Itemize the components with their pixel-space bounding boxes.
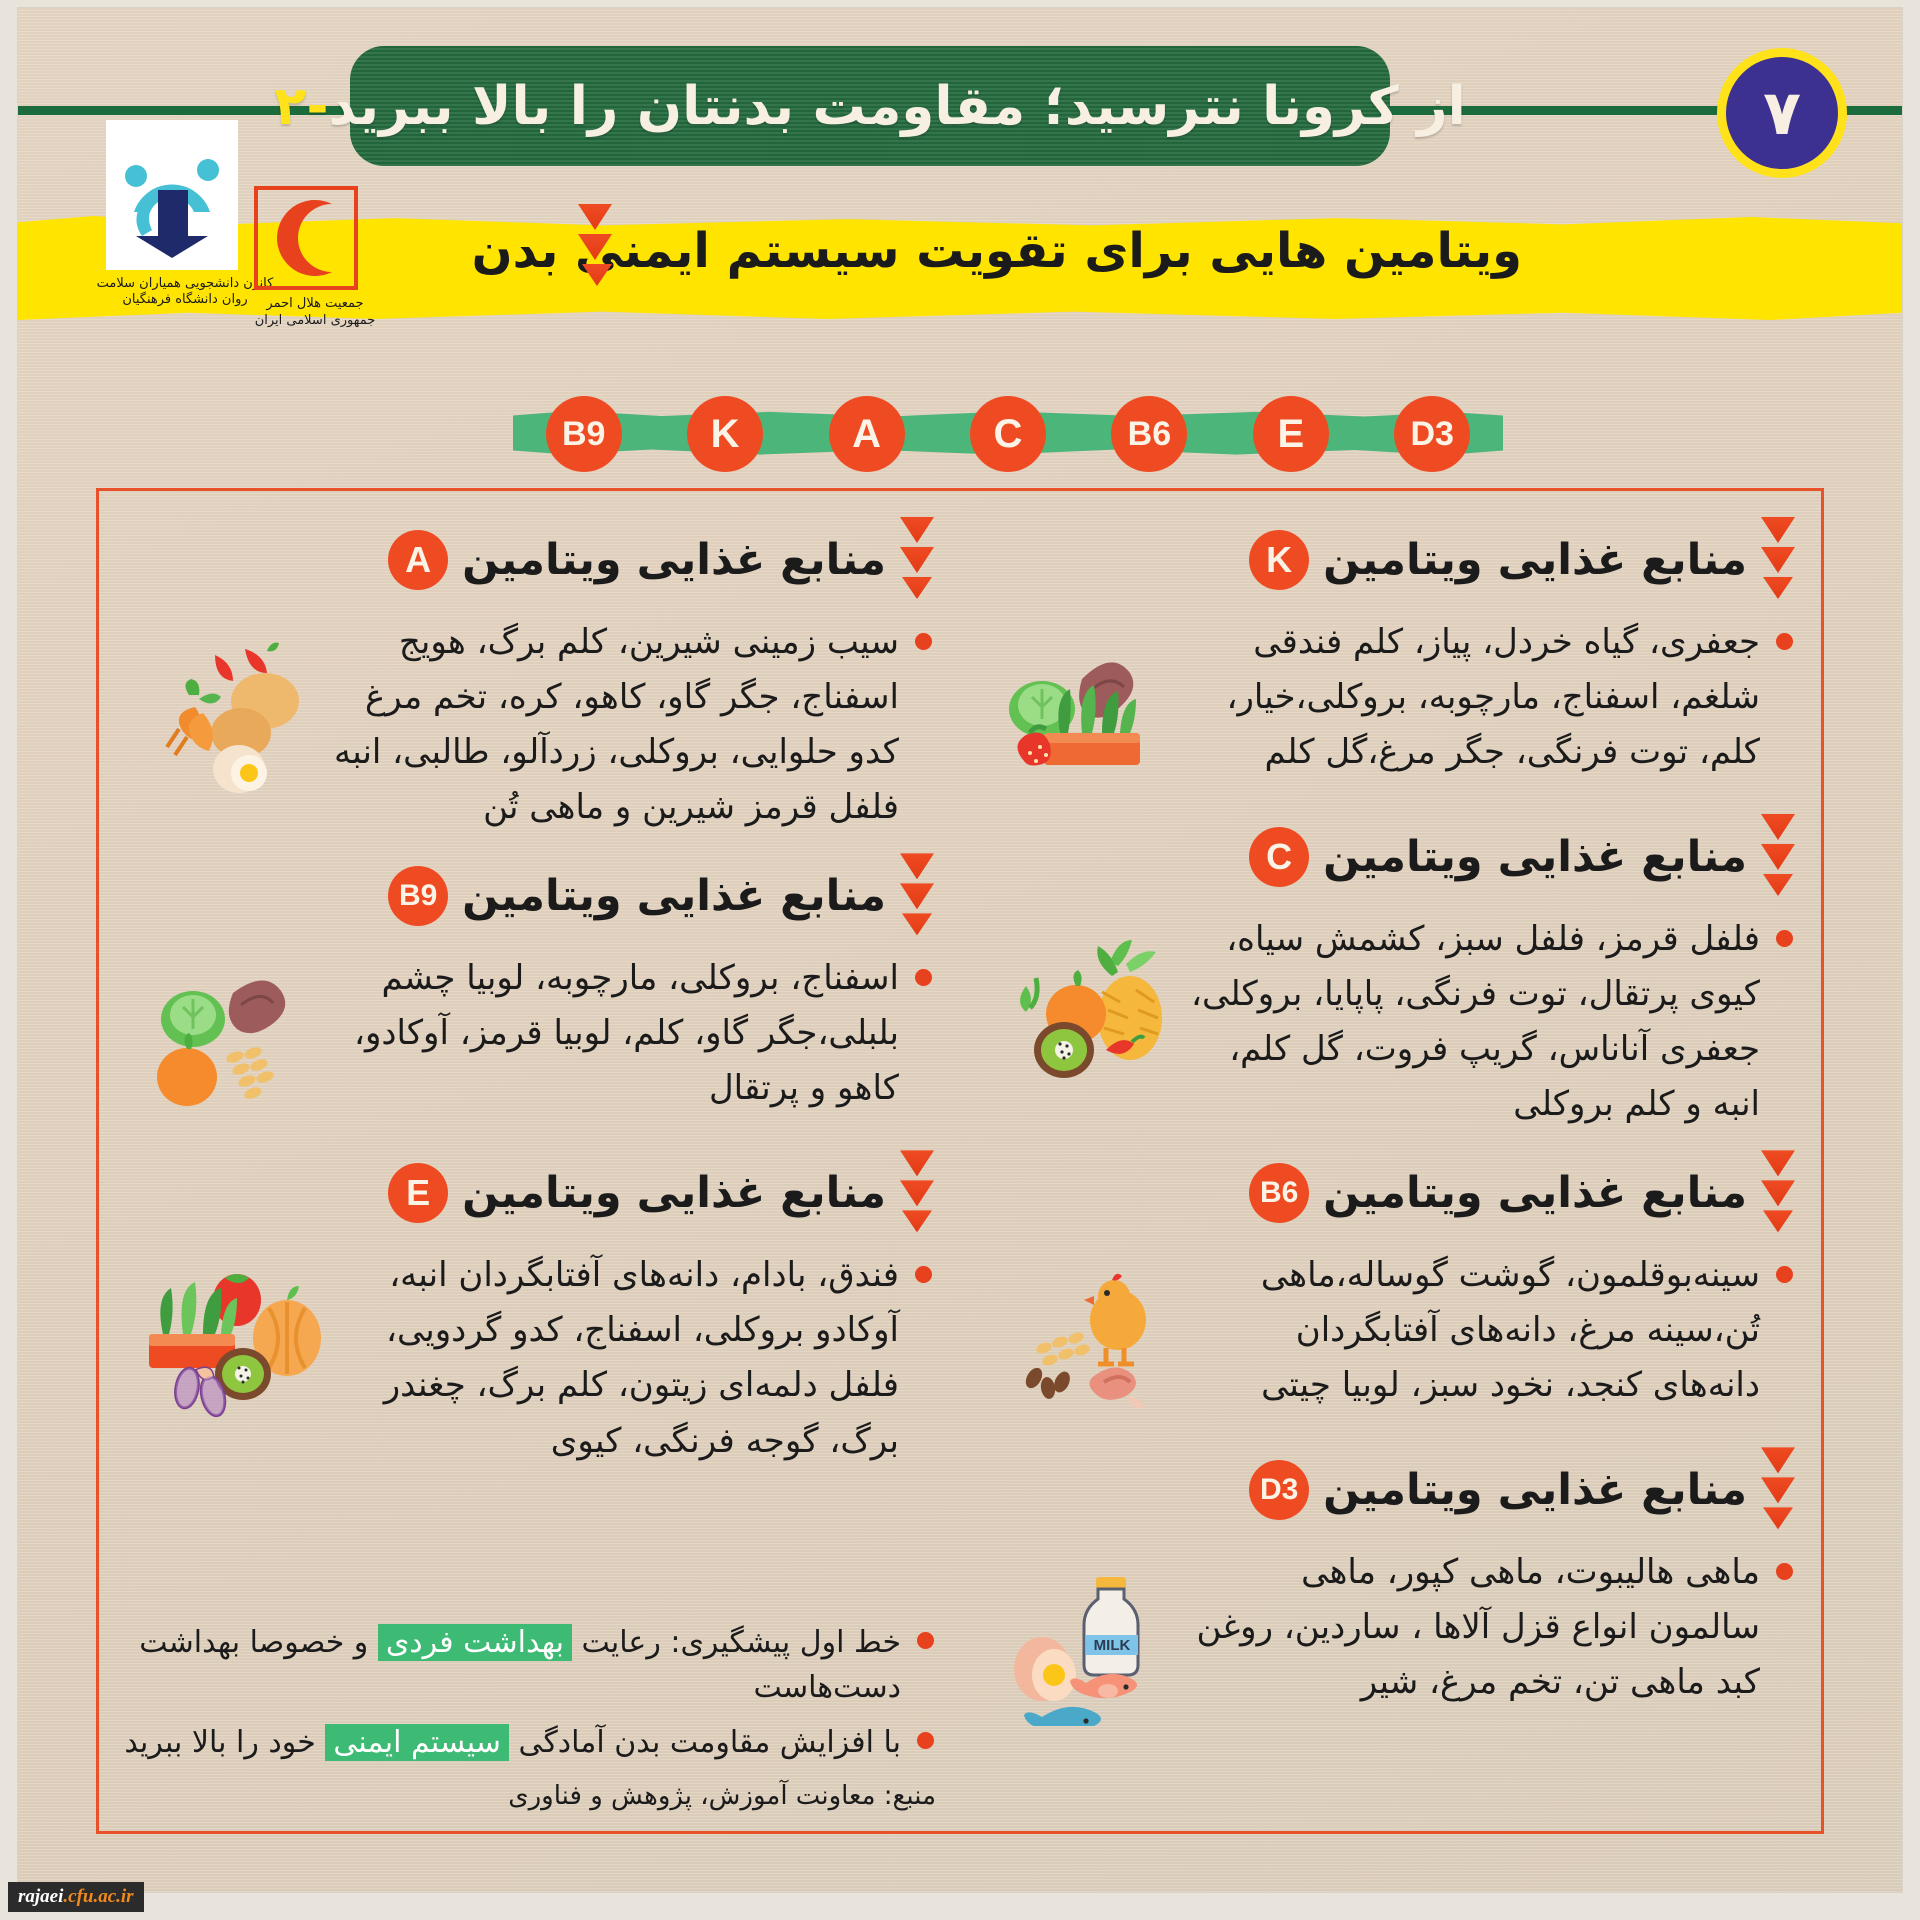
note-row-1: خط اول پیشگیری: رعایت بهداشت فردی و خصوص… bbox=[123, 1620, 936, 1710]
section-chevron-icon bbox=[1761, 1150, 1795, 1236]
section-vitamin-b6: منابع غذایی ویتامین B6 سینه‌بوقلمون، گوش… bbox=[986, 1150, 1795, 1429]
section-title-a: منابع غذایی ویتامین bbox=[462, 535, 886, 585]
vitamin-chip-d3[interactable]: D3 bbox=[1394, 396, 1470, 472]
section-text-c: فلفل قرمز، فلفل سبز، کشمش سیاه، کیوی پرت… bbox=[1190, 912, 1760, 1132]
section-vitamin-e: منابع غذایی ویتامین E فندق، بادام، دانه‌… bbox=[125, 1150, 934, 1468]
vitamin-chip-strip: B9 K A C B6 E D3 bbox=[18, 396, 1902, 472]
section-chevron-icon bbox=[900, 1150, 934, 1236]
section-chevron-icon bbox=[1761, 814, 1795, 900]
red-crescent-caption-line2: جمهوری اسلامی ایران bbox=[230, 313, 400, 330]
section-chevron-icon bbox=[900, 517, 934, 603]
art-vitamin-b9 bbox=[129, 957, 329, 1132]
art-vitamin-e bbox=[129, 1254, 329, 1429]
section-badge-d3: D3 bbox=[1249, 1460, 1309, 1520]
art-vitamin-k bbox=[990, 621, 1190, 796]
section-text-e: فندق، بادام، دانه‌های آفتابگردان انبه، آ… bbox=[329, 1248, 899, 1468]
vitamin-chip-e[interactable]: E bbox=[1253, 396, 1329, 472]
student-association-logo bbox=[106, 120, 238, 270]
section-vitamin-a: منابع غذایی ویتامین A سیب زمینی شیرین، ک… bbox=[125, 517, 934, 835]
vitamin-chip-c[interactable]: C bbox=[970, 396, 1046, 472]
note2-highlight: سیستم ایمنی bbox=[325, 1724, 509, 1761]
subtitle-text: ویتامین هایی برای تقویت سیستم ایمنی بدن bbox=[472, 223, 1522, 279]
bullet-icon bbox=[1776, 930, 1793, 947]
section-badge-a: A bbox=[388, 530, 448, 590]
bullet-icon bbox=[917, 1632, 934, 1649]
section-chevron-icon bbox=[900, 853, 934, 939]
site-watermark: rajaei.cfu.ac.ir bbox=[8, 1882, 144, 1912]
bottom-notes: خط اول پیشگیری: رعایت بهداشت فردی و خصوص… bbox=[123, 1620, 936, 1817]
section-title-b9: منابع غذایی ویتامین bbox=[462, 871, 886, 921]
section-title-c: منابع غذایی ویتامین bbox=[1323, 832, 1747, 882]
page-number-badge: ۷ bbox=[1717, 48, 1847, 178]
vitamin-chip-b9[interactable]: B9 bbox=[546, 396, 622, 472]
red-crescent-logo bbox=[254, 186, 358, 290]
vitamin-chip-b6[interactable]: B6 bbox=[1111, 396, 1187, 472]
bullet-icon bbox=[917, 1732, 934, 1749]
note1-highlight: بهداشت فردی bbox=[378, 1624, 572, 1661]
note2-part3: خود را بالا ببرید bbox=[124, 1725, 325, 1760]
watermark-domain: .cfu.ac.ir bbox=[63, 1886, 133, 1907]
header-title-pill: از کرونا نترسید؛ مقاومت بدنتان را بالا ب… bbox=[350, 46, 1390, 166]
bullet-icon bbox=[1776, 1266, 1793, 1283]
bullet-icon bbox=[915, 969, 932, 986]
art-vitamin-c bbox=[990, 918, 1190, 1093]
section-vitamin-d3: منابع غذایی ویتامین D3 ماهی هالیبوت، ماه… bbox=[986, 1447, 1795, 1726]
content-panel: منابع غذایی ویتامین K جعفری، گیاه خردل، … bbox=[96, 488, 1824, 1834]
section-title-b6: منابع غذایی ویتامین bbox=[1323, 1168, 1747, 1218]
header-title-number: -۲ bbox=[274, 76, 328, 137]
section-text-d3: ماهی هالیبوت، ماهی کپور، ماهی سالمون انو… bbox=[1190, 1545, 1760, 1710]
section-chevron-icon bbox=[1761, 1447, 1795, 1533]
bullet-icon bbox=[1776, 633, 1793, 650]
section-text-b6: سینه‌بوقلمون، گوشت گوساله،ماهی تُن،سینه … bbox=[1190, 1248, 1760, 1413]
watermark-name: rajaei bbox=[18, 1886, 63, 1907]
bullet-icon bbox=[915, 633, 932, 650]
section-badge-e: E bbox=[388, 1163, 448, 1223]
section-title-k: منابع غذایی ویتامین bbox=[1323, 535, 1747, 585]
section-badge-b9: B9 bbox=[388, 866, 448, 926]
bullet-icon bbox=[1776, 1563, 1793, 1580]
section-vitamin-c: منابع غذایی ویتامین C فلفل قرمز، فلفل سب… bbox=[986, 814, 1795, 1132]
section-vitamin-b9: منابع غذایی ویتامین B9 اسفناج، بروکلی، م… bbox=[125, 853, 934, 1132]
bullet-icon bbox=[915, 1266, 932, 1283]
vitamin-chip-k[interactable]: K bbox=[687, 396, 763, 472]
source-line: منبع: معاونت آموزش، پژوهش و فناوری bbox=[123, 1781, 936, 1817]
section-text-k: جعفری، گیاه خردل، پیاز، کلم فندقی شلغم، … bbox=[1190, 615, 1760, 780]
infographic-poster: از کرونا نترسید؛ مقاومت بدنتان را بالا ب… bbox=[18, 8, 1902, 1892]
art-vitamin-b6 bbox=[990, 1254, 1190, 1429]
note1-part1: خط اول پیشگیری: رعایت bbox=[572, 1625, 901, 1660]
right-column: منابع غذایی ویتامین K جعفری، گیاه خردل، … bbox=[960, 491, 1821, 1831]
note-row-2: با افزایش مقاومت بدن آمادگی سیستم ایمنی … bbox=[123, 1720, 936, 1765]
header-title: از کرونا نترسید؛ مقاومت بدنتان را بالا ب… bbox=[274, 76, 1466, 137]
art-vitamin-a bbox=[129, 621, 329, 796]
section-text-b9: اسفناج، بروکلی، مارچوبه، لوبیا چشم بلبلی… bbox=[329, 951, 899, 1116]
page-number-label: ۷ bbox=[1763, 82, 1801, 144]
subtitle-chevron-icon bbox=[578, 204, 612, 290]
red-crescent-caption-line1: جمعیت هلال احمر bbox=[230, 296, 400, 313]
section-badge-b6: B6 bbox=[1249, 1163, 1309, 1223]
note-text-2: با افزایش مقاومت بدن آمادگی سیستم ایمنی … bbox=[123, 1720, 901, 1765]
note2-part1: با افزایش مقاومت بدن آمادگی bbox=[509, 1725, 901, 1760]
left-column: منابع غذایی ویتامین A سیب زمینی شیرین، ک… bbox=[99, 491, 960, 1831]
vitamin-chip-a[interactable]: A bbox=[829, 396, 905, 472]
section-chevron-icon bbox=[1761, 517, 1795, 603]
svg-text:MILK: MILK bbox=[1094, 1637, 1131, 1654]
section-title-d3: منابع غذایی ویتامین bbox=[1323, 1465, 1747, 1515]
section-badge-c: C bbox=[1249, 827, 1309, 887]
section-vitamin-k: منابع غذایی ویتامین K جعفری، گیاه خردل، … bbox=[986, 517, 1795, 796]
red-crescent-caption: جمعیت هلال احمر جمهوری اسلامی ایران bbox=[230, 296, 400, 330]
section-badge-k: K bbox=[1249, 530, 1309, 590]
section-title-e: منابع غذایی ویتامین bbox=[462, 1168, 886, 1218]
section-text-a: سیب زمینی شیرین، کلم برگ، هویج اسفناج، ج… bbox=[329, 615, 899, 835]
art-vitamin-d3: MILK bbox=[990, 1551, 1190, 1726]
note-text-1: خط اول پیشگیری: رعایت بهداشت فردی و خصوص… bbox=[123, 1620, 901, 1710]
